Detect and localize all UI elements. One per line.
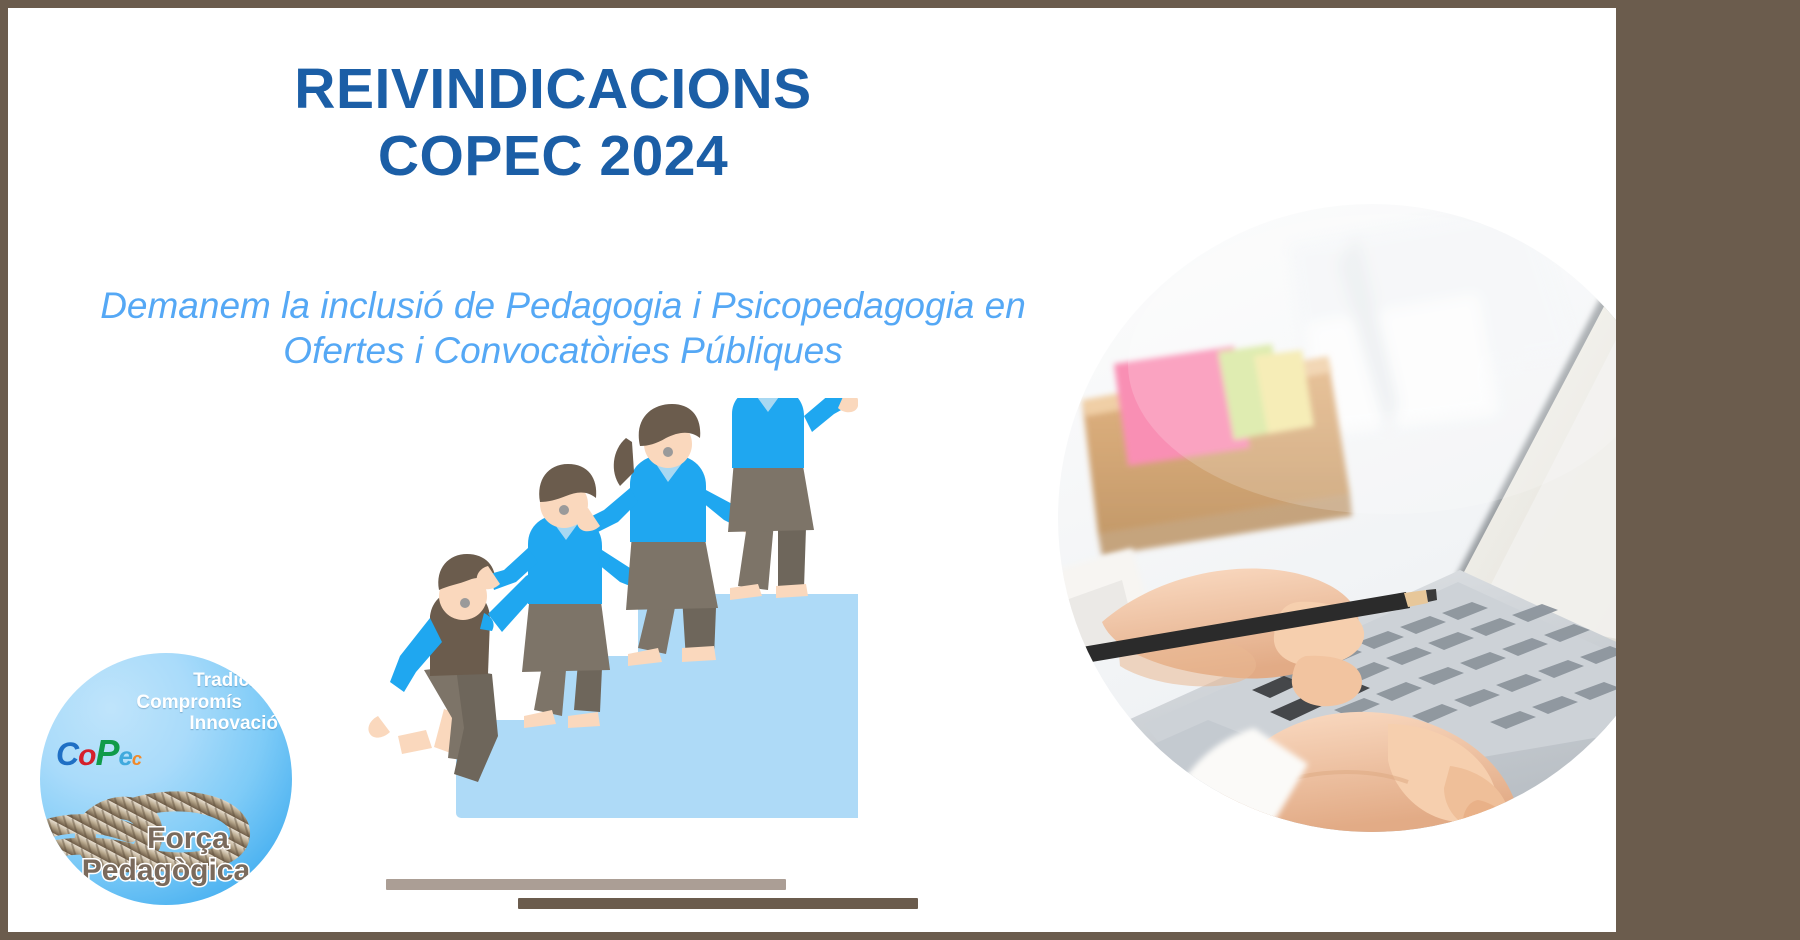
copec-wordmark: CoPec	[56, 731, 176, 775]
subtitle-line-2: Ofertes i Convocatòries Públiques	[18, 328, 1108, 373]
wordmark-letter-o: o	[78, 739, 95, 772]
title-line-2: COPEC 2024	[8, 123, 1098, 190]
wordmark-letter-e: e	[118, 741, 131, 771]
person-4	[728, 398, 858, 600]
page-title: REIVINDICACIONS COPEC 2024	[8, 56, 1098, 191]
wordmark-letter-c1: C	[56, 736, 78, 772]
decorative-bar-dark	[518, 898, 918, 909]
title-line-1: REIVINDICACIONS	[294, 57, 811, 121]
logo-claim-1: Tradició	[40, 670, 266, 692]
subtitle: Demanem la inclusió de Pedagogia i Psico…	[18, 283, 1108, 373]
decorative-bar-light	[386, 879, 786, 890]
logo-name: Força Pedagògica	[40, 823, 292, 887]
subtitle-line-1: Demanem la inclusió de Pedagogia i Psico…	[100, 285, 1026, 326]
logo-name-line-2: Pedagògica	[40, 855, 292, 887]
copec-logo-badge: Tradició Compromís Innovació CoPec	[40, 653, 292, 905]
stairs-illustration	[338, 398, 858, 818]
logo-claims: Tradició Compromís Innovació	[40, 670, 292, 735]
wordmark-letter-c2: c	[132, 749, 141, 769]
poster-canvas: REIVINDICACIONS COPEC 2024 Demanem la in…	[0, 0, 1800, 940]
laptop-typing-photo	[1058, 204, 1616, 832]
white-content-card: REIVINDICACIONS COPEC 2024 Demanem la in…	[8, 8, 1616, 932]
wordmark-letter-p: P	[95, 732, 118, 773]
logo-name-line-1: Força	[40, 823, 292, 855]
logo-claim-2: Compromís	[40, 692, 242, 714]
